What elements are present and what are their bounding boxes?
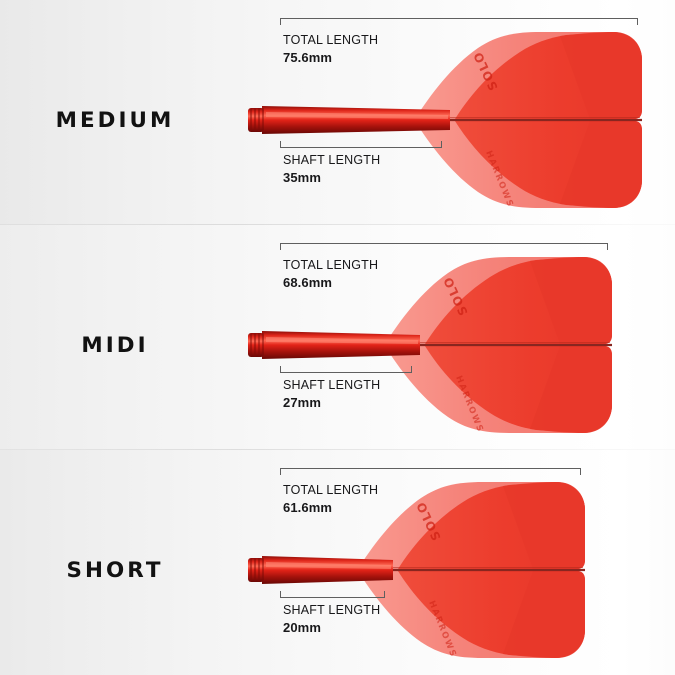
shaft-length-value: 27mm: [283, 394, 380, 412]
dart-size-comparison-sheet: SOLO HARROWS MEDIUM TOTAL LENGTH 75.6mm …: [0, 0, 675, 675]
total-length-value: 61.6mm: [283, 499, 378, 517]
panel-midi: SOLO HARROWS MIDI TOTAL LENGTH 68.6mm SH…: [0, 225, 675, 450]
dart-shaft-medium: [248, 106, 450, 134]
total-length-bracket-short: [280, 468, 581, 475]
shaft-length-value: 20mm: [283, 619, 380, 637]
flight-lower-medium: [415, 121, 642, 208]
total-length-bracket-midi: [280, 243, 608, 250]
flight-upper-midi: [385, 257, 612, 344]
flight-upper-short: [358, 482, 585, 569]
dart-shaft-short: [248, 556, 393, 584]
shaft-length-caption: SHAFT LENGTH: [283, 602, 380, 618]
total-length-bracket-medium: [280, 18, 638, 25]
flight-lower-short: [358, 571, 585, 658]
total-length-caption: TOTAL LENGTH: [283, 257, 378, 273]
shaft-length-value: 35mm: [283, 169, 380, 187]
size-label-medium: MEDIUM: [0, 108, 232, 132]
shaft-length-measure-midi: SHAFT LENGTH 27mm: [283, 377, 380, 412]
total-length-value: 68.6mm: [283, 274, 378, 292]
shaft-length-caption: SHAFT LENGTH: [283, 377, 380, 393]
size-label-short: SHORT: [0, 558, 232, 582]
flight-lower-midi: [385, 346, 612, 433]
total-length-value: 75.6mm: [283, 49, 378, 67]
total-length-measure-short: TOTAL LENGTH 61.6mm: [283, 482, 378, 517]
shaft-length-bracket-medium: [280, 141, 442, 148]
shaft-length-measure-medium: SHAFT LENGTH 35mm: [283, 152, 380, 187]
total-length-caption: TOTAL LENGTH: [283, 32, 378, 48]
shaft-length-bracket-short: [280, 591, 385, 598]
flight-upper-medium: [415, 32, 642, 119]
total-length-caption: TOTAL LENGTH: [283, 482, 378, 498]
panel-medium: SOLO HARROWS MEDIUM TOTAL LENGTH 75.6mm …: [0, 0, 675, 225]
size-label-midi: MIDI: [0, 333, 232, 357]
total-length-measure-midi: TOTAL LENGTH 68.6mm: [283, 257, 378, 292]
total-length-measure-medium: TOTAL LENGTH 75.6mm: [283, 32, 378, 67]
shaft-length-caption: SHAFT LENGTH: [283, 152, 380, 168]
panel-short: SOLO HARROWS SHORT TOTAL LENGTH 61.6mm S…: [0, 450, 675, 675]
shaft-length-measure-short: SHAFT LENGTH 20mm: [283, 602, 380, 637]
dart-shaft-midi: [248, 331, 420, 359]
shaft-length-bracket-midi: [280, 366, 412, 373]
